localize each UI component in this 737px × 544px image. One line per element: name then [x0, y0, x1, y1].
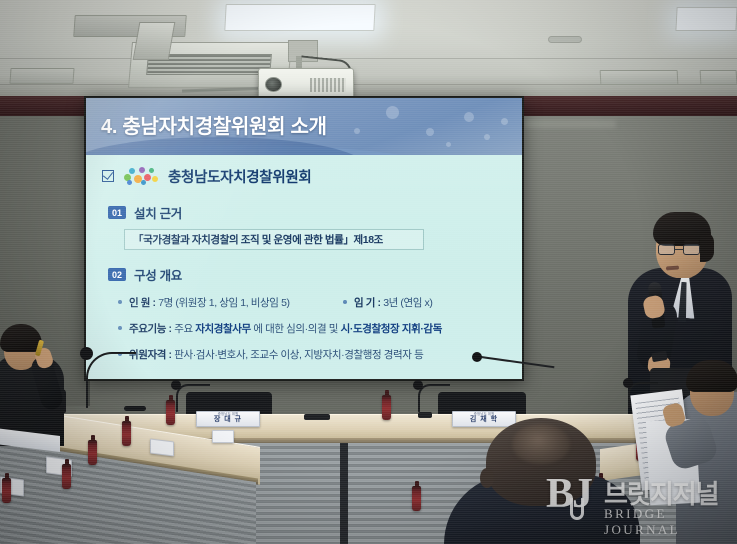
section-label: 구성 개요	[134, 265, 182, 284]
ceiling-fixture	[548, 36, 582, 43]
bullet-label: 주요기능 :	[129, 323, 172, 335]
bullet-highlight: 지휘·감독	[402, 323, 442, 335]
slide-title: 4. 충남자치경찰위원회 소개	[101, 110, 327, 139]
ceiling	[0, 0, 737, 96]
desk-device	[304, 414, 330, 420]
ceiling-light-panel	[675, 7, 737, 31]
ceiling-vent-icon	[700, 70, 737, 85]
bullet-value: 7명 (위원장 1, 상임 1, 비상임 5)	[158, 297, 289, 309]
nameplate: 충청남도 위원 장 대 규	[196, 411, 260, 427]
slide-header-row: 충청남도자치경찰위원회	[102, 165, 311, 187]
desk-device	[418, 412, 432, 418]
section-number-badge: 02	[108, 268, 126, 281]
air-conditioner-side	[133, 22, 176, 60]
slide-section-02: 02 구성 개요	[108, 265, 182, 284]
projector-lens-icon	[265, 77, 282, 92]
slide-title-bar: 4. 충남자치경찰위원회 소개	[86, 98, 522, 155]
ceiling-light-panel	[224, 4, 375, 31]
chungnam-dots-logo-icon	[122, 165, 160, 187]
bullet-highlight: 시·도경찰청장	[341, 323, 400, 335]
section-number-badge: 01	[108, 206, 126, 219]
bullet-row: 위원자격 : 판사·검사·변호사, 조교수 이상, 지방자치·경찰행정 경력자 …	[118, 345, 514, 371]
bullet-row: 인 원 : 7명 (위원장 1, 상임 1, 비상임 5) 임 기 : 3년 (…	[118, 293, 514, 319]
attendee-center-ear	[480, 468, 494, 488]
photo-scene: 4. 충남자치경찰위원회 소개	[0, 0, 737, 544]
drink-bottle	[2, 478, 11, 503]
ceiling-vent-icon	[9, 68, 74, 84]
attendee-center-scalp	[512, 424, 570, 464]
nameplate-subtext: 충청남도 위원	[474, 412, 495, 417]
glasses-icon	[658, 244, 702, 255]
law-reference-text: 「국가경찰과 자치경찰의 조직 및 운영에 관한 법률」제18조	[133, 232, 383, 247]
drink-bottle	[88, 440, 97, 465]
slide-bullet-list: 인 원 : 7명 (위원장 1, 상임 1, 비상임 5) 임 기 : 3년 (…	[118, 293, 514, 371]
bullet-label: 인 원 :	[129, 297, 156, 309]
panel-seam	[340, 443, 348, 544]
checkbox-checked-icon	[102, 170, 114, 182]
attendee-right-hair	[686, 360, 737, 392]
slide-header-text: 충청남도자치경찰위원회	[168, 166, 311, 187]
bullet-dot-icon	[118, 326, 122, 330]
bullet-pre: 주요	[174, 323, 193, 335]
slide-body: 충청남도자치경찰위원회 01 설치 근거 「국가경찰과 자치경찰의 조직 및 운…	[86, 155, 522, 379]
bullet-row: 주요기능 : 주요 자치경찰사무 에 대한 심의·의결 및 시·도경찰청장 지휘…	[118, 319, 514, 345]
nameplate-subtext: 충청남도 위원	[218, 412, 239, 417]
nameplate-small	[150, 439, 174, 457]
slide-surface: 4. 충남자치경찰위원회 소개	[86, 98, 522, 379]
drink-bottle	[166, 400, 175, 425]
law-reference-box: 「국가경찰과 자치경찰의 조직 및 운영에 관한 법률」제18조	[124, 229, 424, 250]
ceiling-vent-icon	[600, 70, 679, 85]
bullet-highlight: 자치경찰사무	[195, 323, 251, 335]
bullet-dot-icon	[118, 300, 122, 304]
drink-bottle	[382, 395, 391, 420]
projection-screen: 4. 충남자치경찰위원회 소개	[84, 96, 524, 381]
bullet-mid: 에 대한 심의·의결 및	[253, 323, 338, 335]
section-label: 설치 근거	[134, 203, 182, 222]
bullet-dot-icon	[343, 300, 347, 304]
bullet-right-value: 3년 (연임 x)	[383, 297, 432, 309]
bullet-value: 판사·검사·변호사, 조교수 이상, 지방자치·경찰행정 경력자 등	[174, 349, 423, 361]
nameplate-small	[212, 430, 234, 443]
nameplate: 충청남도 위원 김 재 학	[452, 411, 516, 427]
bullet-right-label: 임 기 :	[354, 297, 381, 309]
wall-marking	[524, 120, 616, 128]
slide-section-01: 01 설치 근거	[108, 203, 182, 222]
drink-bottle	[122, 421, 131, 446]
drink-bottle	[62, 464, 71, 489]
speaker-hair-side	[700, 232, 714, 262]
drink-bottle	[412, 486, 421, 511]
